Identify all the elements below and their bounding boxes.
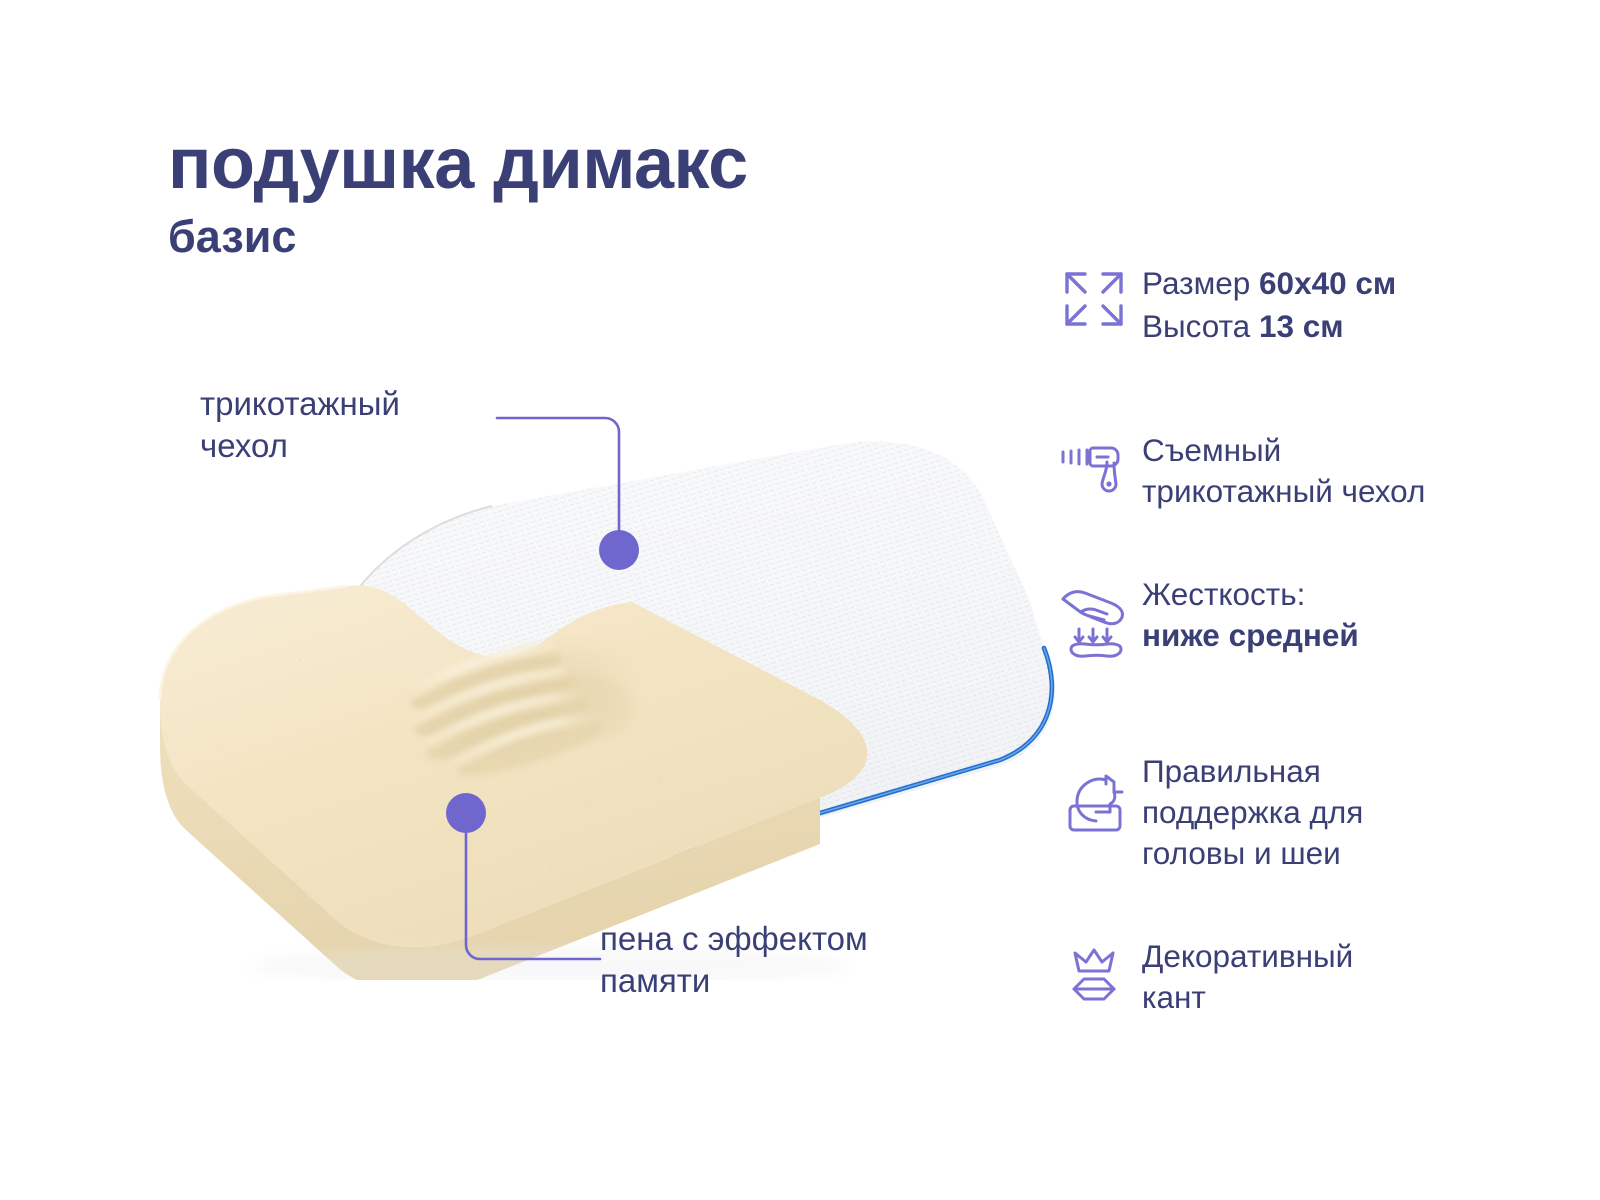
feature-decor-piping-text: Декоративный кант	[1142, 934, 1353, 1018]
decor-piping-line2: кант	[1142, 977, 1353, 1018]
callout-foam-line1: пена с эффектом	[600, 918, 1000, 960]
head-on-pillow-icon	[1046, 749, 1142, 859]
support-line3: головы и шеи	[1142, 833, 1363, 874]
decor-piping-line1: Декоративный	[1142, 936, 1353, 977]
firmness-line1: Жесткость:	[1142, 574, 1359, 615]
crown-pillow-icon	[1046, 934, 1142, 1018]
size-row-dimensions: Размер 60x40 см	[1142, 264, 1396, 303]
height-label: Высота	[1142, 308, 1259, 344]
feature-item-support: Правильная поддержка для головы и шеи	[1046, 749, 1363, 874]
height-value: 13 см	[1259, 308, 1344, 344]
expand-arrows-icon	[1046, 262, 1142, 340]
callout-foam-line2: памяти	[600, 960, 1000, 1002]
page-subtitle: базис	[168, 214, 1028, 259]
hand-press-pillow-icon	[1046, 572, 1142, 668]
zipper-icon	[1046, 428, 1142, 502]
support-line1: Правильная	[1142, 751, 1363, 792]
feature-size-text: Размер 60x40 см Высота 13 см	[1142, 262, 1396, 347]
callout-label-knit-cover: трикотажный чехол	[200, 383, 530, 467]
feature-removable-cover-text: Съемный трикотажный чехол	[1142, 428, 1425, 512]
feature-item-decor-piping: Декоративный кант	[1046, 934, 1353, 1018]
callout-cover-line2: чехол	[200, 425, 530, 467]
callout-label-memory-foam: пена с эффектом памяти	[600, 918, 1000, 1002]
page-title: подушка димакс	[168, 128, 1028, 200]
size-value: 60x40 см	[1259, 265, 1396, 301]
size-row-height: Высота 13 см	[1142, 307, 1396, 346]
feature-firmness-text: Жесткость: ниже средней	[1142, 572, 1359, 656]
feature-item-firmness: Жесткость: ниже средней	[1046, 572, 1359, 668]
feature-item-removable-cover: Съемный трикотажный чехол	[1046, 428, 1425, 512]
product-illustration	[120, 400, 1080, 980]
infographic-canvas: подушка димакс базис	[0, 0, 1600, 1200]
support-line2: поддержка для	[1142, 792, 1363, 833]
removable-cover-line2: трикотажный чехол	[1142, 471, 1425, 512]
title-block: подушка димакс базис	[168, 128, 1028, 259]
firmness-line2: ниже средней	[1142, 617, 1359, 653]
callout-cover-line1: трикотажный	[200, 383, 530, 425]
removable-cover-line1: Съемный	[1142, 430, 1425, 471]
size-label: Размер	[1142, 265, 1259, 301]
feature-support-text: Правильная поддержка для головы и шеи	[1142, 749, 1363, 874]
feature-item-size: Размер 60x40 см Высота 13 см	[1046, 262, 1396, 347]
